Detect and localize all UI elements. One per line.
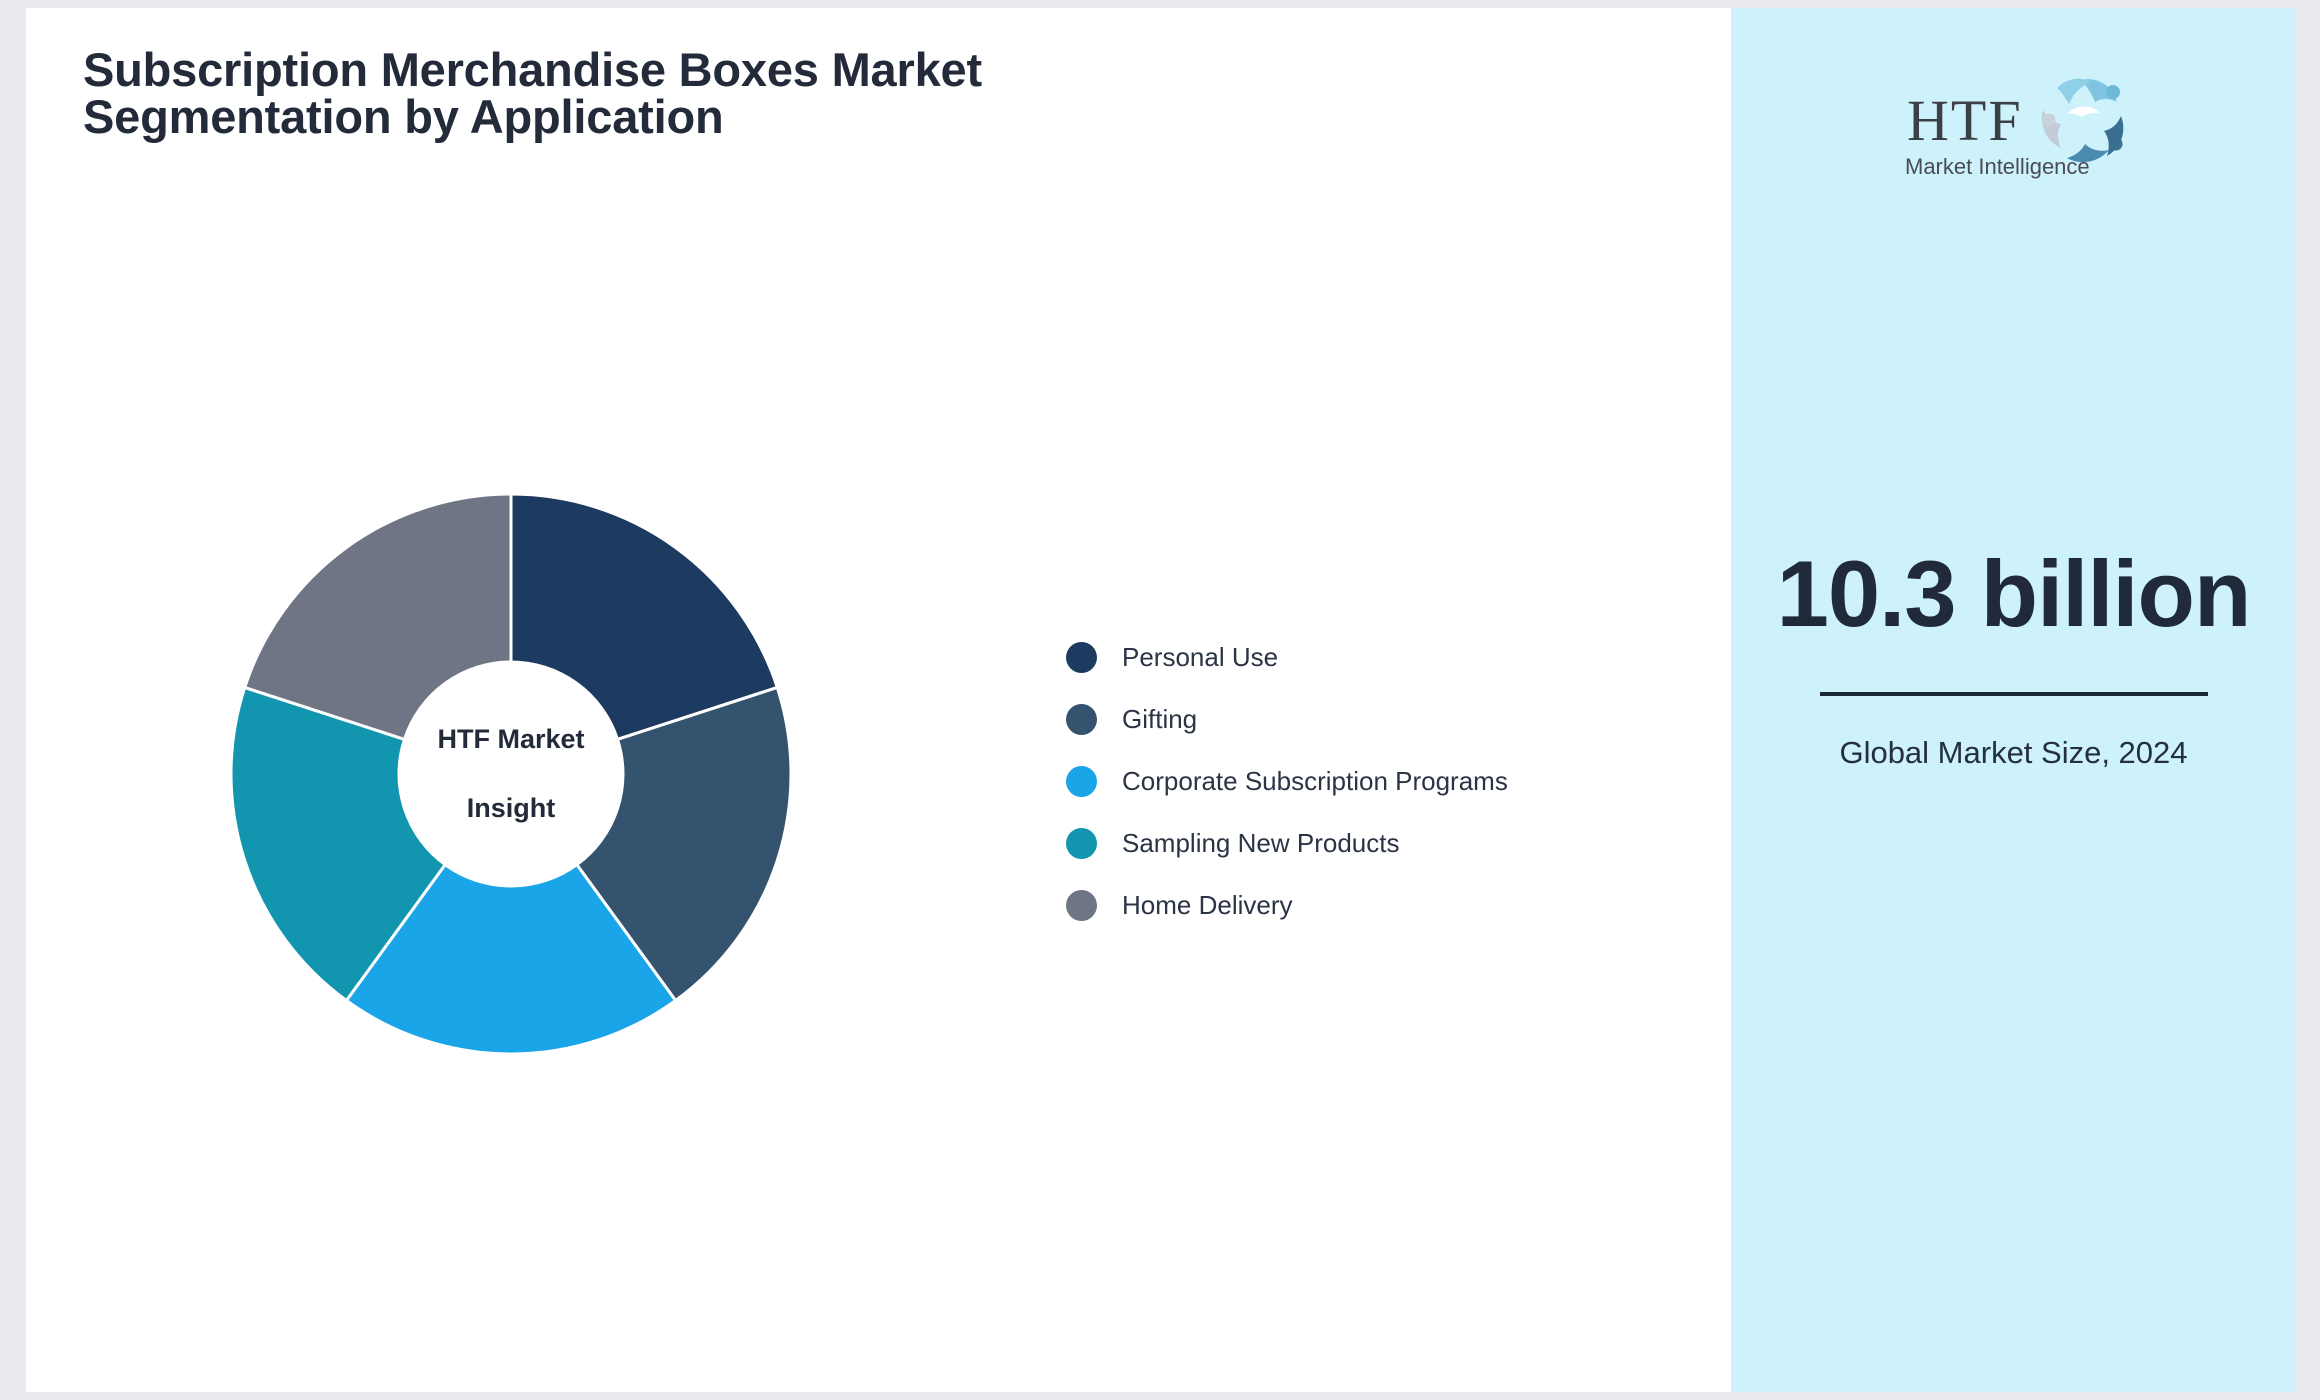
infographic-card: Subscription Merchandise Boxes Market Se… — [26, 8, 2296, 1392]
legend-item[interactable]: Gifting — [1066, 688, 1686, 750]
donut-chart: HTF Market Insight — [26, 8, 1026, 1392]
stat-value: 10.3 billion — [1774, 541, 2254, 646]
htf-subtext: Market Intelligence — [1905, 154, 2090, 179]
donut-graphic — [201, 464, 821, 1084]
stat-caption: Global Market Size, 2024 — [1774, 732, 2254, 774]
legend-item-label: Gifting — [1122, 704, 1197, 735]
legend-item[interactable]: Sampling New Products — [1066, 812, 1686, 874]
legend-item[interactable]: Home Delivery — [1066, 874, 1686, 936]
legend-item[interactable]: Personal Use — [1066, 626, 1686, 688]
legend-swatch-icon — [1066, 704, 1097, 735]
stat-panel: HTF Market Intelligence 10.3 billion Glo… — [1731, 8, 2296, 1392]
htf-logo-svg: HTF Market Intelligence — [1889, 70, 2139, 182]
legend-item-label: Home Delivery — [1122, 890, 1293, 921]
legend-item-label: Corporate Subscription Programs — [1122, 766, 1508, 797]
donut-svg — [201, 464, 821, 1084]
htf-wordmark: HTF — [1907, 88, 2023, 153]
stat-divider — [1820, 692, 2208, 696]
legend-swatch-icon — [1066, 890, 1097, 921]
infographic-root: Subscription Merchandise Boxes Market Se… — [0, 0, 2320, 1400]
legend-item-label: Sampling New Products — [1122, 828, 1399, 859]
htf-logo: HTF Market Intelligence — [1889, 70, 2139, 182]
legend-item-label: Personal Use — [1122, 642, 1278, 673]
legend-swatch-icon — [1066, 642, 1097, 673]
stat-block: 10.3 billion Global Market Size, 2024 — [1774, 541, 2254, 774]
htf-people-circle-icon — [2041, 79, 2122, 163]
legend-swatch-icon — [1066, 766, 1097, 797]
legend-swatch-icon — [1066, 828, 1097, 859]
legend-item[interactable]: Corporate Subscription Programs — [1066, 750, 1686, 812]
chart-legend: Personal UseGiftingCorporate Subscriptio… — [1066, 626, 1686, 936]
main-panel: Subscription Merchandise Boxes Market Se… — [26, 8, 1731, 1392]
